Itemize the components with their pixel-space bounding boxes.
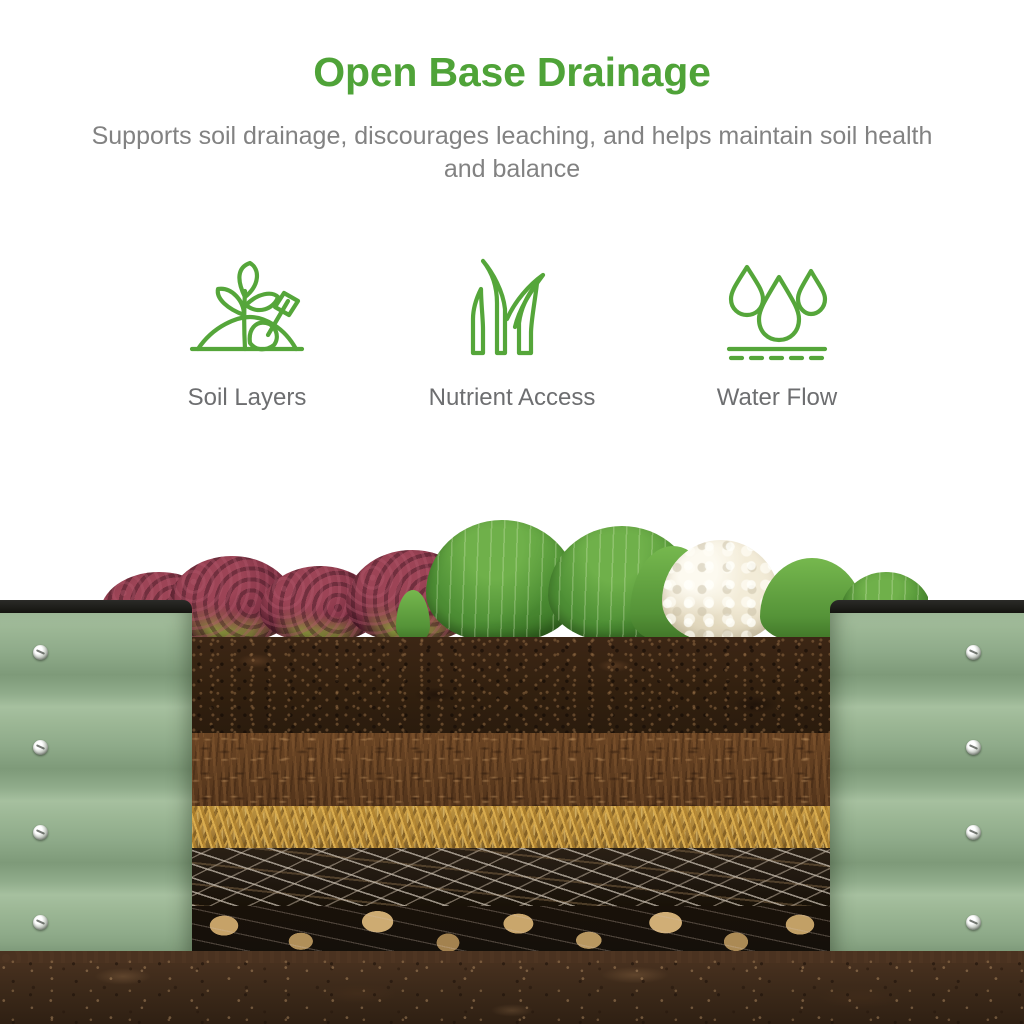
soil-layer-straw [192, 806, 832, 848]
feature-item-soil-layers: Soil Layers [115, 255, 380, 414]
plant-shovel-soil-mound-icon [115, 255, 380, 365]
grass-blades-icon [380, 255, 645, 365]
feature-label: Nutrient Access [380, 383, 645, 414]
feature-item-water-flow: Water Flow [645, 255, 910, 414]
page-title: Open Base Drainage [0, 0, 1024, 93]
panel-screw [966, 915, 981, 930]
panel-top-rail [830, 600, 1024, 613]
feature-label: Soil Layers [115, 383, 380, 414]
garden-bed-panel-right [830, 600, 1024, 956]
soil-layer-compost-mulch [192, 733, 832, 806]
soil-layer-wood-logs [192, 906, 832, 955]
header: Open Base Drainage Supports soil drainag… [0, 0, 1024, 230]
panel-top-rail [0, 600, 192, 613]
panel-screw [966, 645, 981, 660]
plant-row [96, 497, 928, 642]
soil-cross-section [192, 637, 832, 955]
feature-item-nutrient-access: Nutrient Access [380, 255, 645, 414]
panel-screw [33, 825, 48, 840]
feature-list: Soil Layers Nutrient Access [0, 255, 1024, 465]
soil-layer-topsoil [192, 637, 832, 733]
panel-screw [966, 740, 981, 755]
panel-screw [966, 825, 981, 840]
ground-soil [0, 956, 1024, 1024]
panel-corrugated-body [830, 613, 1024, 956]
panel-screw [33, 915, 48, 930]
panel-screw [33, 645, 48, 660]
feature-label: Water Flow [645, 383, 910, 414]
soil-layer-twigs [192, 848, 832, 906]
panel-screw [33, 740, 48, 755]
water-droplets-over-lines-icon [645, 255, 910, 365]
garden-bed-panel-left [0, 600, 192, 956]
panel-corrugated-body [0, 613, 192, 956]
page-subtitle: Supports soil drainage, discourages leac… [82, 93, 942, 187]
product-image-raised-garden-bed [0, 497, 1024, 1024]
